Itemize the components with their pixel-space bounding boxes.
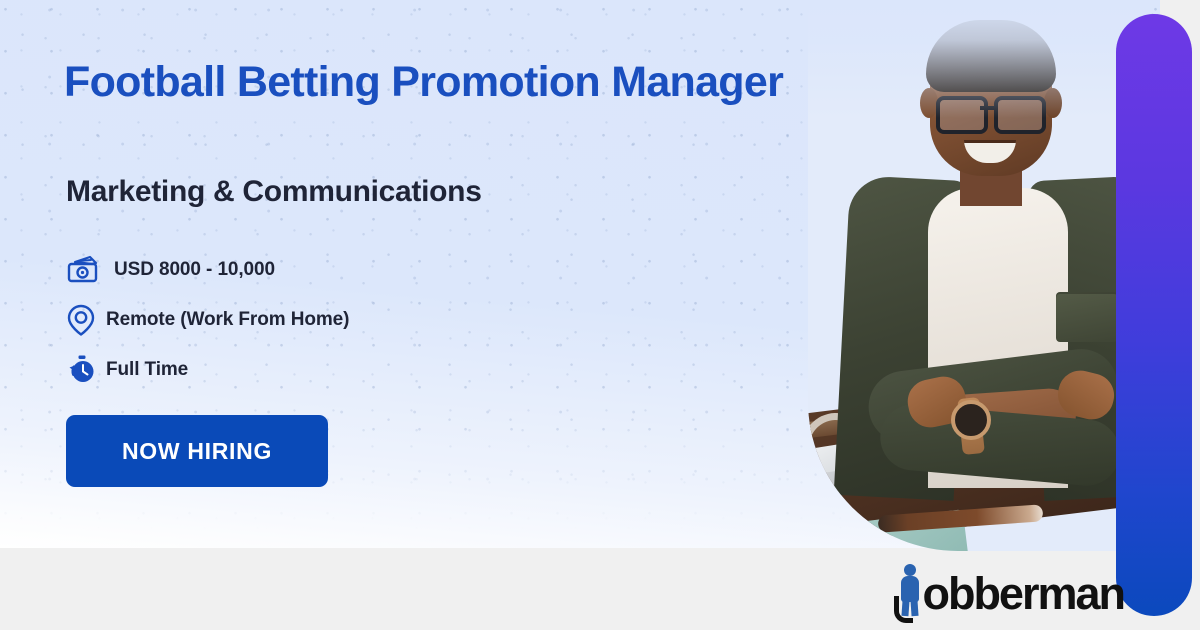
figure-leg-right [911,600,919,616]
figure-body [901,576,919,602]
photo-scene [808,0,1148,551]
salary-value: USD 8000 - 10,000 [106,259,275,281]
watch-face [951,400,991,440]
stopwatch-icon [66,354,106,386]
logo-wordmark: obberman [922,573,1124,616]
person-logo-icon [896,562,926,616]
job-category: Marketing & Communications [66,175,482,209]
meta-row-employment-type: Full Time [66,348,626,392]
now-hiring-button[interactable]: NOW HIRING [66,415,328,487]
shirt-pocket [1056,292,1118,342]
meta-row-salary: USD 8000 - 10,000 [66,248,626,292]
gradient-accent-bar [1116,14,1192,616]
job-poster: Football Betting Promotion Manager Marke… [0,0,1200,630]
page-title: Football Betting Promotion Manager [64,58,864,107]
cash-icon [66,255,106,285]
figure-head [904,564,916,576]
candidate-photo [808,0,1148,551]
jobberman-logo: obberman [896,558,1124,616]
job-meta-list: USD 8000 - 10,000 Remote (Work From Home… [66,248,626,398]
location-pin-icon [66,303,106,337]
employment-type-value: Full Time [106,359,188,381]
meta-row-location: Remote (Work From Home) [66,298,626,342]
location-value: Remote (Work From Home) [106,309,349,331]
job-details-column: Football Betting Promotion Manager Marke… [64,0,854,548]
photo-top-fade [808,0,1148,118]
